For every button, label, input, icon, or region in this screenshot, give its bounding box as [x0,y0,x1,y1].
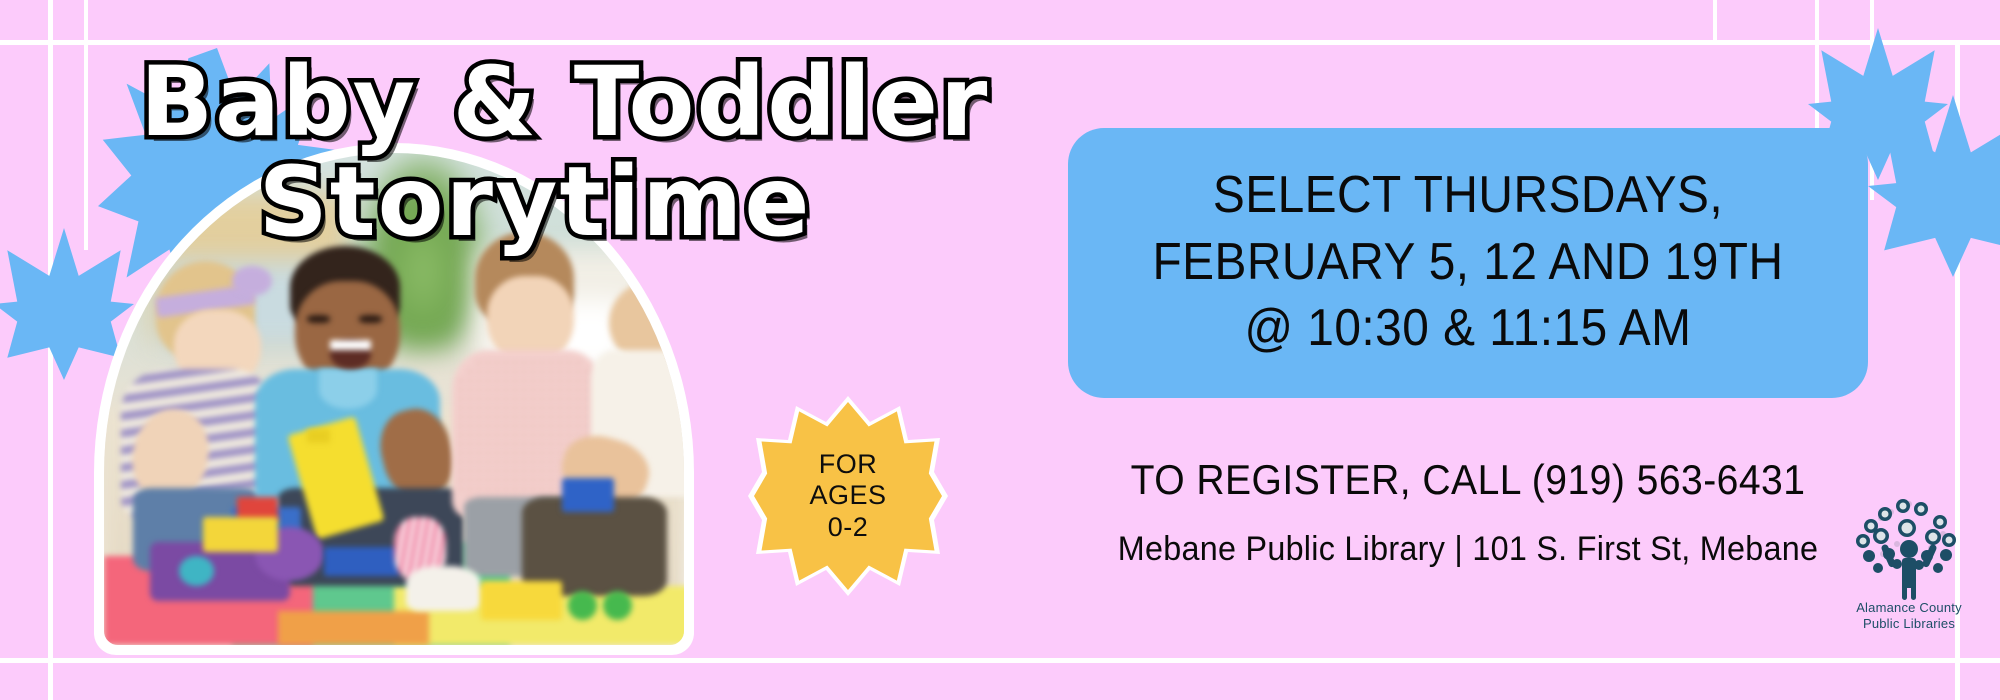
photo-child-2-teeth [330,340,371,350]
photo-toy-yellow-nub [307,429,330,444]
grid-line-vertical-3 [1713,0,1717,45]
tree-person-logo-icon [1845,492,1973,600]
age-badge-line-1: FOR [819,449,878,480]
photo-toy-teal-dot [179,556,214,586]
event-details-column: SELECT THURSDAYS, FEBRUARY 5, 12 AND 19T… [1068,128,1868,569]
schedule-info-box: SELECT THURSDAYS, FEBRUARY 5, 12 AND 19T… [1068,128,1868,398]
logo-caption-line-2: Public Libraries [1845,616,1973,632]
grid-line-horizontal-bottom [0,658,2000,663]
photo-toy-yellow-block-3 [481,581,562,620]
grid-line-vertical-2 [84,0,88,250]
age-badge-text: FOR AGES 0-2 [748,396,948,596]
photo-play-mat-orange [278,611,429,645]
storytime-promo-banner: Baby & Toddler Storytime FOR AGES 0-2 SE… [0,0,2000,700]
photo-child-2-eye-left [307,315,330,323]
photo-toy-blue-block-2 [324,547,399,577]
headline-line-2: Storytime [230,158,840,246]
photo-toy-yellow-block-2 [203,517,278,551]
banner-headline: Baby & Toddler Storytime [140,58,840,247]
library-logo: Alamance County Public Libraries [1845,492,1973,637]
photo-toy-green-dot-2 [603,591,632,621]
grid-line-horizontal-top [0,40,2000,45]
photo-child-2-collar [319,369,377,408]
schedule-line-1: SELECT THURSDAYS, [1124,162,1812,229]
photo-child-shoe [406,566,481,610]
photo-child-1-bow [232,266,273,296]
library-address-text: Mebane Public Library | 101 S. First St,… [1088,530,1848,569]
registration-phone-text: TO REGISTER, CALL (919) 563-6431 [1096,456,1840,504]
age-range-badge: FOR AGES 0-2 [748,396,948,596]
age-badge-line-3: 0-2 [828,512,869,543]
headline-line-1: Baby & Toddler [140,58,840,146]
photo-child-2-eye-right [359,315,382,323]
schedule-line-3: @ 10:30 & 11:15 AM [1124,295,1812,362]
logo-caption-line-1: Alamance County [1845,600,1973,616]
schedule-line-2: FEBRUARY 5, 12 AND 19TH [1124,229,1812,296]
photo-toy-blue-block-3 [562,478,614,512]
age-badge-line-2: AGES [809,480,886,511]
